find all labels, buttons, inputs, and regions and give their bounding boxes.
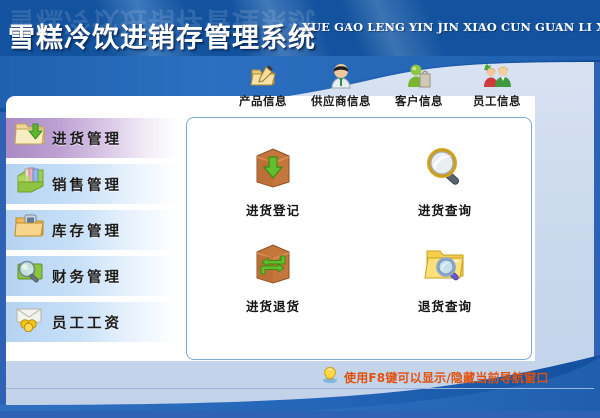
sidebar-item-label: 库存管理 <box>52 220 122 241</box>
sidebar: 进货管理 销售管理 <box>6 118 178 348</box>
folder-pencil-icon <box>225 62 301 90</box>
file-box-icon <box>6 164 52 204</box>
topbar-item-supplier-info[interactable]: 供应商信息 <box>303 62 379 109</box>
magnifier-gold-icon <box>422 142 468 192</box>
lightbulb-icon <box>322 366 338 388</box>
topbar-label: 产品信息 <box>225 93 301 109</box>
topbar-item-employee-info[interactable]: 员工信息 <box>459 62 535 109</box>
panel-item-purchase-register[interactable]: 进货登记 <box>187 132 359 228</box>
employees-two-people-icon <box>459 62 535 90</box>
panel-item-purchase-return[interactable]: 进货退货 <box>187 228 359 324</box>
sidebar-item-label: 员工工资 <box>52 312 122 333</box>
application-window: 雪糕冷饮进销存管理系统 雪糕冷饮进销存管理系统 XUE GAO LENG YIN… <box>0 0 600 418</box>
sidebar-item-label: 进货管理 <box>52 128 122 149</box>
header-banner: 雪糕冷饮进销存管理系统 雪糕冷饮进销存管理系统 XUE GAO LENG YIN… <box>0 0 600 58</box>
customer-person-bag-icon <box>381 62 457 90</box>
sidebar-item-inventory-management[interactable]: 库存管理 <box>6 210 178 250</box>
statusbar-text: 使用F8键可以显示/隐藏当前导航窗口 <box>344 369 549 386</box>
sidebar-item-label: 销售管理 <box>52 174 122 195</box>
function-grid: 进货登记 进货查询 <box>187 132 531 324</box>
sidebar-item-finance-management[interactable]: 财务管理 <box>6 256 178 296</box>
panel-item-return-query[interactable]: 退货查询 <box>359 228 531 324</box>
topbar-item-customer-info[interactable]: 客户信息 <box>381 62 457 109</box>
money-magnifier-icon <box>6 256 52 296</box>
main-panel: 进货登记 进货查询 <box>186 117 532 360</box>
panel-item-label: 进货退货 <box>246 296 300 315</box>
topbar-label: 客户信息 <box>381 93 457 109</box>
sidebar-item-purchase-management[interactable]: 进货管理 <box>6 118 178 158</box>
panel-item-label: 进货登记 <box>246 200 300 219</box>
sidebar-item-label: 财务管理 <box>52 266 122 287</box>
topbar-label: 供应商信息 <box>303 93 379 109</box>
stock-device-folder-icon <box>6 210 52 250</box>
box-swap-arrows-icon <box>250 238 296 288</box>
box-down-arrow-icon <box>250 142 296 192</box>
coins-envelope-icon <box>6 302 52 342</box>
page-title-reflection: 雪糕冷饮进销存管理系统 <box>8 4 316 43</box>
topbar-item-product-info[interactable]: 产品信息 <box>225 62 301 109</box>
panel-item-purchase-query[interactable]: 进货查询 <box>359 132 531 228</box>
top-icon-bar: 产品信息 供应商信息 <box>225 62 535 112</box>
page-title-pinyin-reflection: XUE GAO LENG YIN JIN XIAO CUN GUAN LI XI… <box>302 20 600 34</box>
folder-magnifier-icon <box>422 238 468 288</box>
sidebar-item-employee-salary[interactable]: 员工工资 <box>6 302 178 342</box>
statusbar-divider <box>6 388 594 389</box>
supplier-person-icon <box>303 62 379 90</box>
panel-item-label: 进货查询 <box>418 200 472 219</box>
topbar-label: 员工信息 <box>459 93 535 109</box>
statusbar: 使用F8键可以显示/隐藏当前导航窗口 <box>322 366 549 388</box>
panel-item-label: 退货查询 <box>418 296 472 315</box>
folder-down-arrow-icon <box>6 118 52 158</box>
sidebar-item-sales-management[interactable]: 销售管理 <box>6 164 178 204</box>
